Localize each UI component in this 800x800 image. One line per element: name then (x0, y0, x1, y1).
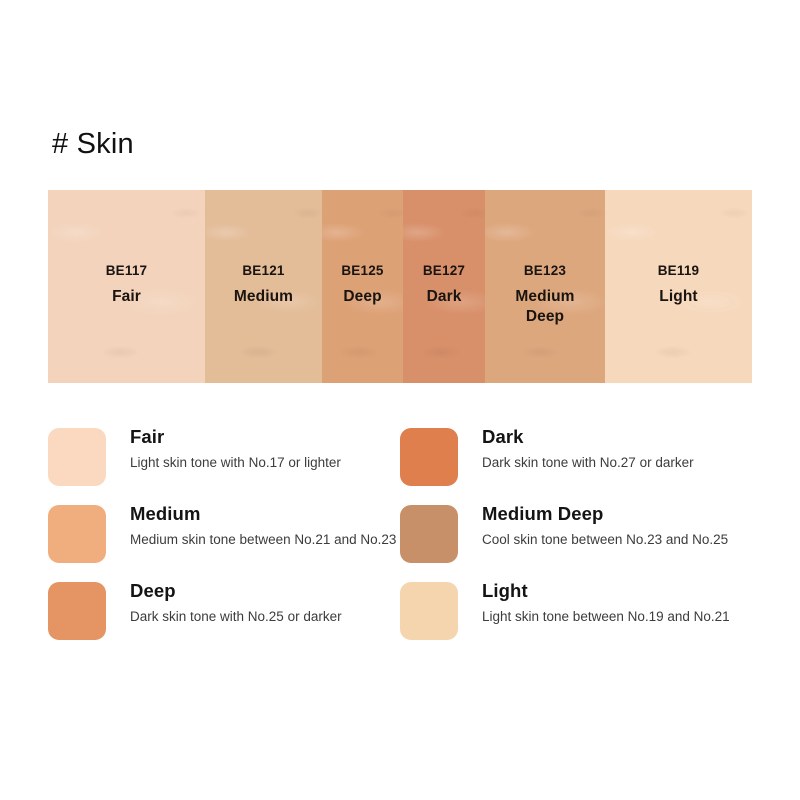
shade-legend: FairLight skin tone with No.17 or lighte… (48, 425, 768, 656)
legend-text-block: Medium DeepCool skin tone between No.23 … (482, 502, 728, 549)
legend-item-fair: FairLight skin tone with No.17 or lighte… (48, 425, 400, 502)
swatch-name: Medium Deep (515, 287, 574, 327)
legend-color-chip (48, 505, 106, 563)
legend-title: Dark (482, 425, 694, 448)
legend-title: Fair (130, 425, 341, 448)
legend-item-light: LightLight skin tone between No.19 and N… (400, 579, 768, 656)
page-title: # Skin (52, 128, 134, 161)
swatch-label: BE127Dark (423, 262, 465, 307)
swatch-code: BE117 (106, 262, 148, 279)
swatch-label: BE121Medium (234, 262, 293, 307)
legend-text-block: LightLight skin tone between No.19 and N… (482, 579, 730, 626)
swatch-name: Dark (423, 287, 465, 307)
swatch-cell-be123: BE123Medium Deep (485, 190, 605, 383)
legend-item-medium-deep: Medium DeepCool skin tone between No.23 … (400, 502, 768, 579)
legend-description: Dark skin tone with No.25 or darker (130, 607, 342, 626)
legend-description: Light skin tone between No.19 and No.21 (482, 607, 730, 626)
swatch-code: BE121 (234, 262, 293, 279)
legend-color-chip (400, 582, 458, 640)
swatch-label: BE117Fair (106, 262, 148, 307)
legend-color-chip (48, 582, 106, 640)
skin-shade-guide-page: # Skin BE117FairBE121MediumBE125DeepBE12… (0, 0, 800, 800)
legend-color-chip (400, 428, 458, 486)
swatch-cell-be125: BE125Deep (322, 190, 403, 383)
legend-text-block: FairLight skin tone with No.17 or lighte… (130, 425, 341, 472)
swatch-cell-be127: BE127Dark (403, 190, 485, 383)
swatch-cell-be121: BE121Medium (205, 190, 322, 383)
legend-title: Medium Deep (482, 502, 728, 525)
swatch-name: Medium (234, 287, 293, 307)
legend-item-medium: MediumMedium skin tone between No.21 and… (48, 502, 400, 579)
legend-color-chip (400, 505, 458, 563)
legend-title: Deep (130, 579, 342, 602)
legend-description: Light skin tone with No.17 or lighter (130, 453, 341, 472)
legend-description: Cool skin tone between No.23 and No.25 (482, 530, 728, 549)
legend-item-dark: DarkDark skin tone with No.27 or darker (400, 425, 768, 502)
legend-description: Medium skin tone between No.21 and No.23 (130, 530, 396, 549)
swatch-code: BE123 (515, 262, 574, 279)
swatch-code: BE127 (423, 262, 465, 279)
swatch-cell-be119: BE119Light (605, 190, 752, 383)
legend-text-block: MediumMedium skin tone between No.21 and… (130, 502, 396, 549)
swatch-code: BE125 (341, 262, 383, 279)
swatch-cell-be117: BE117Fair (48, 190, 205, 383)
legend-text-block: DarkDark skin tone with No.27 or darker (482, 425, 694, 472)
swatch-name: Light (658, 287, 700, 307)
swatch-label: BE123Medium Deep (515, 262, 574, 327)
swatch-name: Deep (341, 287, 383, 307)
legend-title: Medium (130, 502, 396, 525)
legend-title: Light (482, 579, 730, 602)
swatch-code: BE119 (658, 262, 700, 279)
swatch-label: BE125Deep (341, 262, 383, 307)
legend-description: Dark skin tone with No.27 or darker (482, 453, 694, 472)
swatch-name: Fair (106, 287, 148, 307)
legend-text-block: DeepDark skin tone with No.25 or darker (130, 579, 342, 626)
swatch-label: BE119Light (658, 262, 700, 307)
shade-swatch-band: BE117FairBE121MediumBE125DeepBE127DarkBE… (48, 190, 752, 383)
legend-item-deep: DeepDark skin tone with No.25 or darker (48, 579, 400, 656)
legend-color-chip (48, 428, 106, 486)
